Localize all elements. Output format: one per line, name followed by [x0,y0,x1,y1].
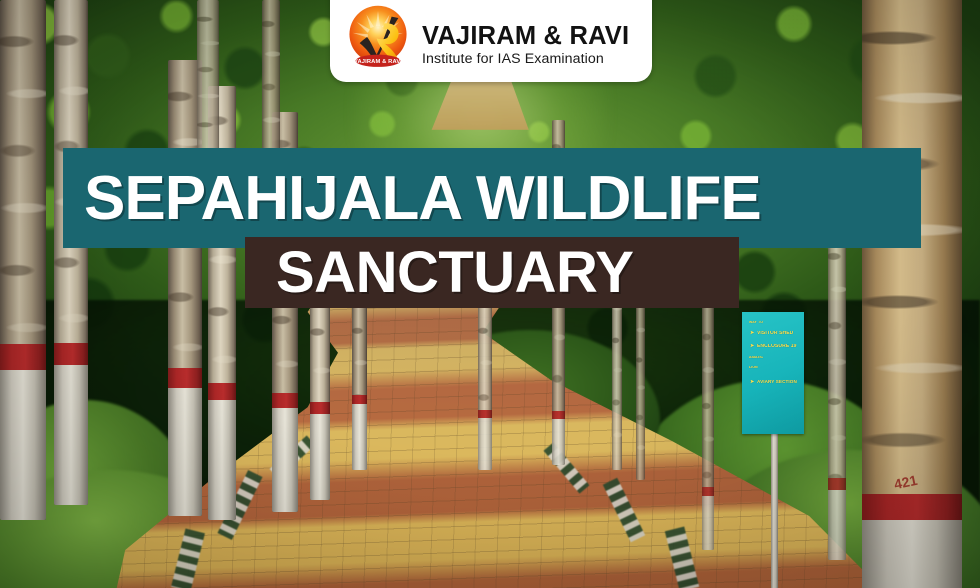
signboard-row-aviary: ➤ AVIARY SECTION [749,380,800,385]
brand-logo-card[interactable]: VAJIRAM & RAVI VAJIRAM & RAVI Institute … [330,0,652,82]
signboard-row-enclosure: ➤ ENCLOSURE 19 [749,344,800,349]
title-line-1: SEPAHIJALA WILDLIFE [84,163,761,234]
title-banner-secondary: SANCTUARY [245,237,739,308]
signboard-heading: WAY TO [749,321,800,324]
arrow-icon-1: ➤ [750,331,754,336]
directional-signboard[interactable]: WAY TO ➤ VISITOR SHED ➤ ENCLOSURE 19 ASI… [742,312,804,434]
signboard-row-visitor-shed: ➤ VISITOR SHED [749,331,800,336]
title-banner-primary: SEPAHIJALA WILDLIFE [63,148,921,248]
vajiram-ravi-logo-icon: VAJIRAM & RAVI [344,3,412,71]
tree-trunk-left-1 [0,0,46,520]
signboard-row-asiatic: ASIATIC [749,356,800,360]
brand-title: VAJIRAM & RAVI [422,23,629,49]
brand-subtitle: Institute for IAS Examination [422,52,629,68]
poster-canvas: 421 WAY TO ➤ VISITOR SHED ➤ ENCLOSURE 19 [0,0,980,588]
title-line-2: SANCTUARY [276,239,633,306]
brand-text-block: VAJIRAM & RAVI Institute for IAS Examina… [422,23,629,72]
svg-text:VAJIRAM & RAVI: VAJIRAM & RAVI [354,59,402,65]
tree-trunk-right-2 [828,230,846,560]
signboard-row-lion: LION [749,366,800,370]
signboard-row-label-2: ENCLOSURE 19 [757,344,797,349]
arrow-icon-2: ➤ [750,344,754,349]
tree-trunk-left-2 [54,0,88,505]
signboard-row-label-1: VISITOR SHED [757,331,793,336]
signboard-row-label-5: AVIARY SECTION [757,380,797,384]
arrow-icon-3: ➤ [750,380,754,385]
